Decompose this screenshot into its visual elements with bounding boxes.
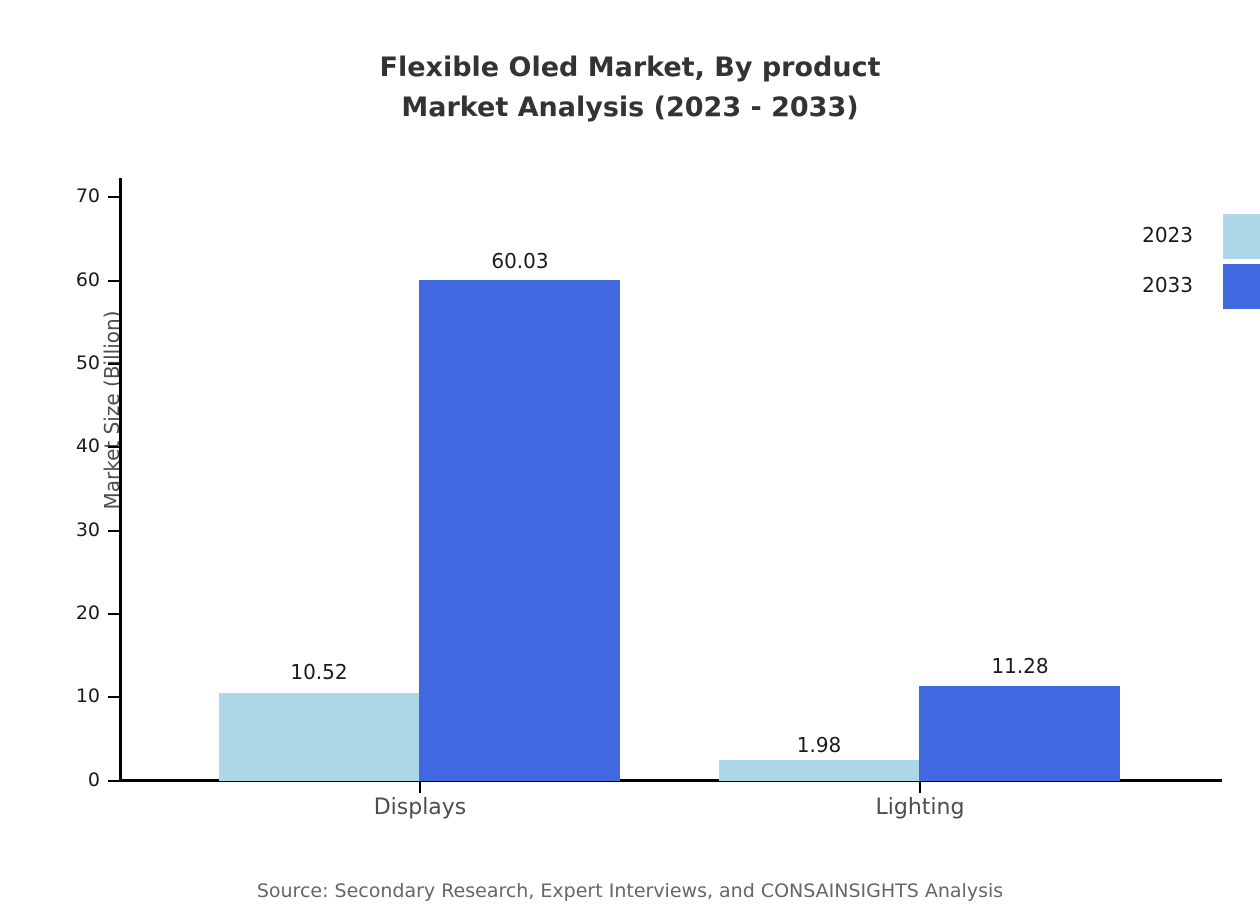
bar-2033-displays[interactable]: [419, 280, 620, 781]
legend-label-2023: 2023: [1073, 225, 1193, 245]
x-tick-label-lighting: Lighting: [770, 793, 1070, 823]
plot-area: 10.52 60.03 1.98 11.28: [121, 178, 1222, 781]
x-tick-label-displays: Displays: [270, 793, 570, 823]
bar-value-label-2033-lighting: 11.28: [910, 656, 1130, 676]
bar-chart-figure: Flexible Oled Market, By product Market …: [0, 0, 1260, 920]
y-tick-label-10: 10: [40, 687, 100, 706]
legend-item-2023[interactable]: 2023: [1120, 214, 1260, 262]
y-tick-label-60: 60: [40, 271, 100, 290]
y-tick-label-30: 30: [40, 521, 100, 540]
chart-title-line-2: Market Analysis (2023 - 2033): [0, 88, 1260, 128]
y-tick-label-0: 0: [40, 771, 100, 790]
bar-value-label-2033-displays: 60.03: [410, 251, 630, 271]
y-tick-label-40: 40: [40, 437, 100, 456]
legend-item-2033[interactable]: 2033: [1120, 264, 1260, 312]
legend: 2023 2033: [1120, 214, 1260, 310]
bar-2023-displays[interactable]: [219, 693, 419, 781]
legend-swatch-2023: [1223, 214, 1260, 259]
legend-label-2033: 2033: [1073, 275, 1193, 295]
x-tick-mark-displays: [419, 781, 421, 793]
bar-value-label-2023-displays: 10.52: [209, 662, 429, 682]
y-tick-label-20: 20: [40, 604, 100, 623]
bar-2023-lighting[interactable]: [719, 760, 919, 781]
legend-swatch-2033: [1223, 264, 1260, 309]
y-tick-label-70: 70: [40, 187, 100, 206]
x-tick-mark-lighting: [919, 781, 921, 793]
chart-title-line-1: Flexible Oled Market, By product: [0, 48, 1260, 88]
chart-title: Flexible Oled Market, By product Market …: [0, 48, 1260, 128]
bar-2033-lighting[interactable]: [919, 686, 1120, 781]
y-tick-label-50: 50: [40, 354, 100, 373]
bar-value-label-2023-lighting: 1.98: [709, 735, 929, 755]
source-note: Source: Secondary Research, Expert Inter…: [0, 878, 1260, 904]
